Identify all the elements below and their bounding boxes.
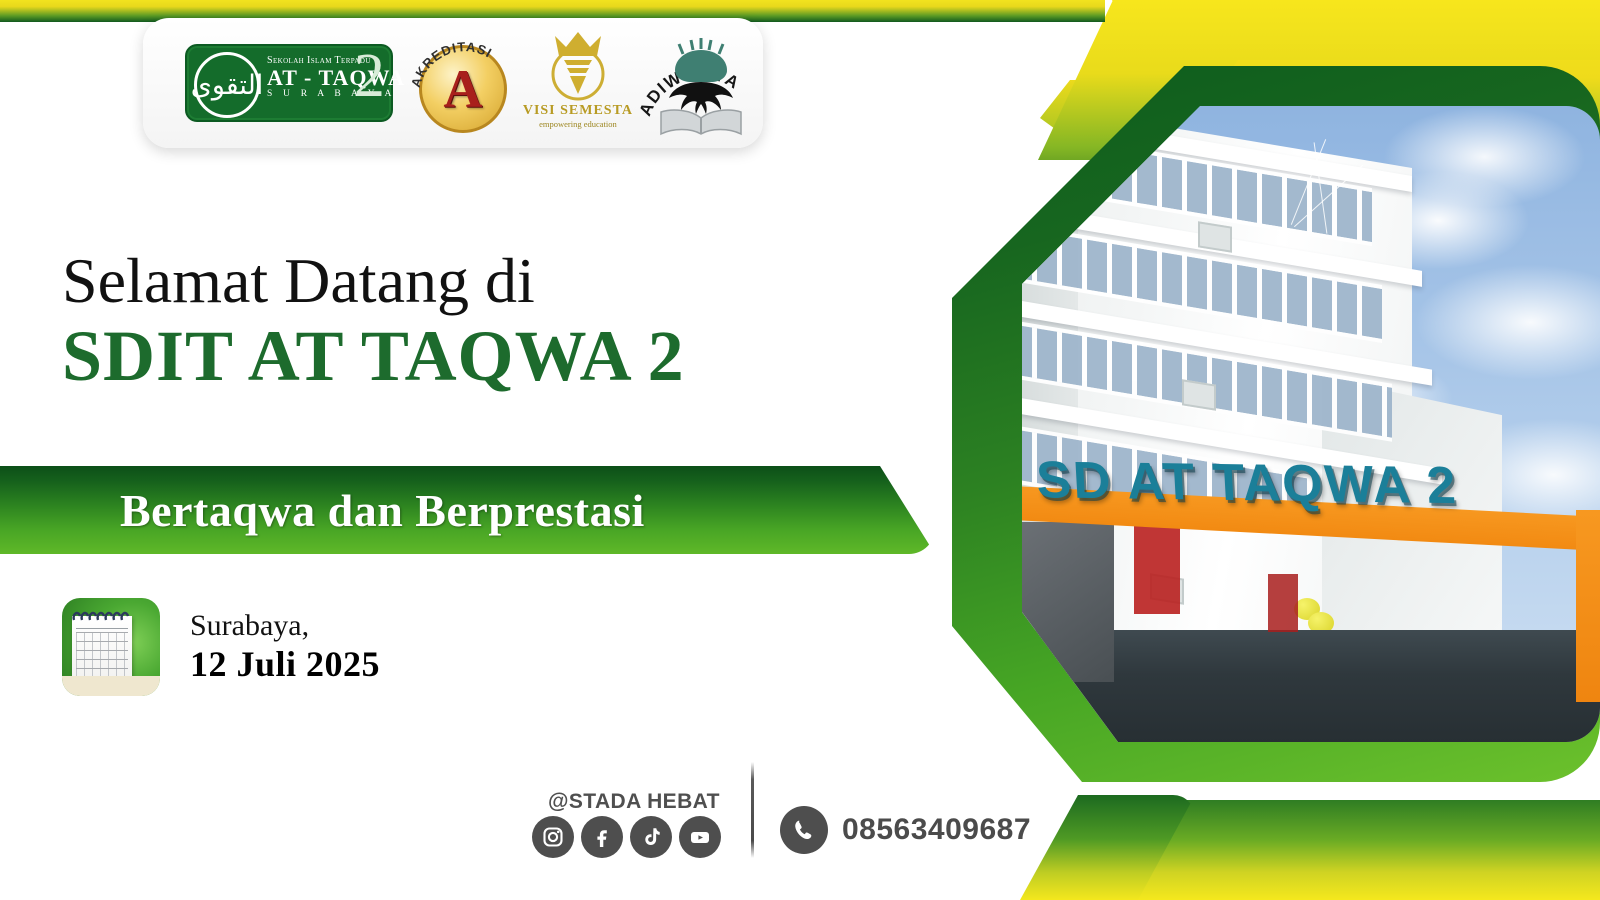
city-label: Surabaya, [190,609,380,644]
adiwiyata-logo: ADIWIYATA [639,24,763,142]
date-block: Surabaya, 12 Juli 2025 [62,598,380,696]
social-handle: @STADA HEBAT [548,790,720,814]
instagram-icon[interactable] [532,816,574,858]
accreditation-word: AKREDITASI [411,31,515,135]
red-banner-decoration [1134,518,1180,614]
footer-divider [751,762,754,858]
building-sign-text: SD AT TAQWA 2 [1035,450,1578,518]
arabic-calligraphy-icon: التقوى [194,52,260,118]
orange-awning-side [1576,510,1600,702]
headline-block: Selamat Datang di SDIT AT TAQWA 2 [62,248,685,395]
social-block: @STADA HEBAT [532,790,721,858]
phone-icon[interactable] [780,806,828,854]
visi-semesta-tagline: empowering education [539,119,617,129]
ac-unit-icon [1198,221,1232,252]
crown-v-icon [539,30,617,102]
date-label: 12 Juli 2025 [190,644,380,685]
ac-unit-icon [1182,379,1216,410]
school-logo: التقوى Sekolah Islam Terpadu AT - TAQWA … [185,44,393,122]
youtube-icon[interactable] [679,816,721,858]
greeting-text: Selamat Datang di [62,248,685,313]
svg-text:AKREDITASI: AKREDITASI [411,39,495,89]
calendar-spiral-icon [70,608,134,622]
tiktok-icon[interactable] [630,816,672,858]
facebook-icon[interactable] [581,816,623,858]
red-door [1268,574,1298,632]
calendar-icon [62,598,160,696]
footer-contact-bar: @STADA HEBAT [532,762,1031,858]
visi-semesta-name: VISI SEMESTA [523,103,633,119]
phone-number: 08563409687 [842,813,1031,847]
school-logo-number: 2 [354,45,385,107]
school-building-photo: SD AT TAQWA 2 [1022,106,1600,742]
accreditation-badge: A AKREDITASI [411,31,513,135]
school-name-title: SDIT AT TAQWA 2 [62,319,685,395]
logo-card: التقوى Sekolah Islam Terpadu AT - TAQWA … [143,18,763,148]
date-text-block: Surabaya, 12 Juli 2025 [190,609,380,685]
visi-semesta-logo: VISI SEMESTA empowering education [523,28,633,138]
tagline-banner: Bertaqwa dan Berprestasi [0,466,935,554]
tagline-text: Bertaqwa dan Berprestasi [120,484,645,537]
phone-block: 08563409687 [780,806,1031,854]
calendar-grid [76,632,128,686]
social-icon-list [532,816,721,858]
calendar-paper [72,616,132,690]
